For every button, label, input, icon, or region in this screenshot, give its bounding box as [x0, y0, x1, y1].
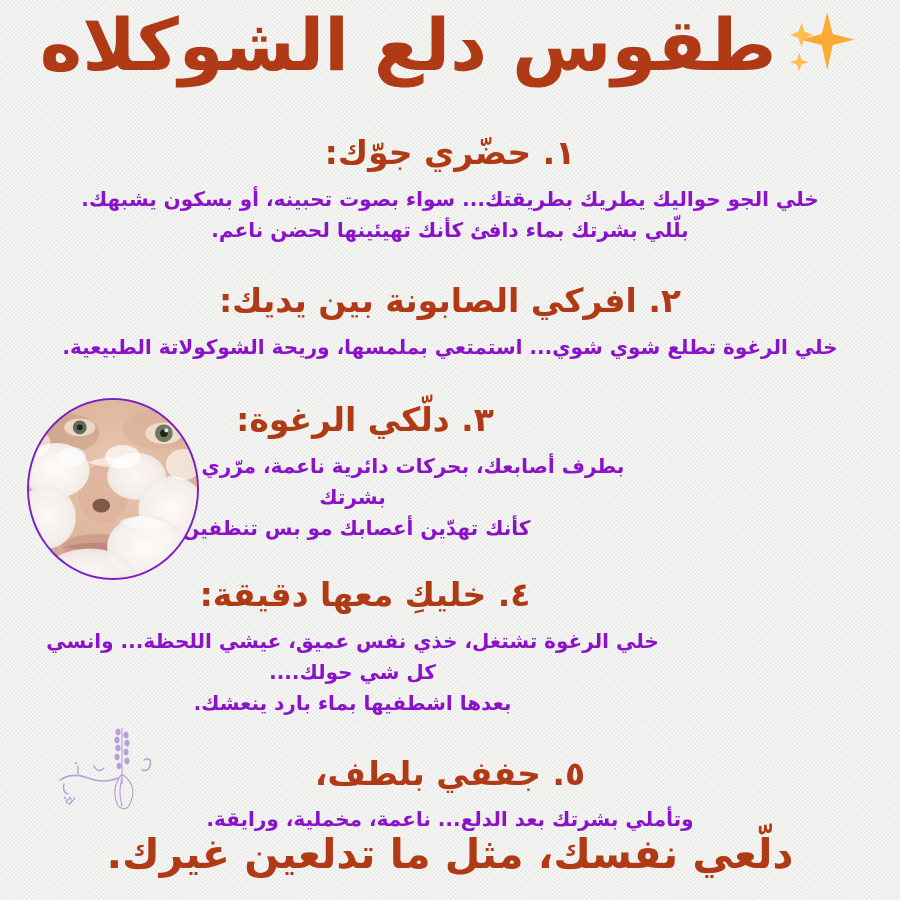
logo-brand-script: True Care brand [52, 722, 77, 809]
step-4: ٤. خليكِ معها دقيقة: خلي الرغوة تشتغل، خ… [0, 574, 900, 719]
step-2-body-line-1: خلي الرغوة تطلع شوي شوي... استمتعي بملمس… [26, 332, 874, 363]
true-care-brand-logo: True Care brand [52, 722, 184, 830]
step-2-heading: ٢. افركي الصابونة بين يديك: [26, 280, 874, 323]
page-title-text: طقوس دلع الشوكلاه [40, 4, 777, 87]
face-washing-photo [27, 398, 199, 580]
step-2: ٢. افركي الصابونة بين يديك: خلي الرغوة ت… [0, 280, 900, 363]
footer-tagline: دلّعي نفسك، مثل ما تدلعين غيرك. [0, 828, 900, 881]
step-4-body-line-2: بعدها اشطفيها بماء بارد ينعشك. [26, 688, 874, 719]
step-1-body-line-2: بلّلي بشرتك بماء دافئ كأنك تهيئينها لحضن… [26, 215, 874, 246]
step-4-body-line-1: خلي الرغوة تشتغل، خذي نفس عميق، عيشي الل… [26, 626, 874, 688]
infographic-canvas: طقوس دلع الشوكلاه ١. حضّري جوّك: خلي الج… [0, 0, 900, 900]
step-1-body-line-1: خلي الجو حواليك يطريك بطريقتك... سواء بص… [26, 184, 874, 215]
step-1: ١. حضّري جوّك: خلي الجو حواليك يطريك بطر… [0, 132, 900, 246]
step-1-heading: ١. حضّري جوّك: [26, 132, 874, 175]
step-4-heading: ٤. خليكِ معها دقيقة: [26, 574, 874, 617]
page-title: طقوس دلع الشوكلاه [0, 4, 900, 87]
sparkles-icon [782, 6, 860, 84]
